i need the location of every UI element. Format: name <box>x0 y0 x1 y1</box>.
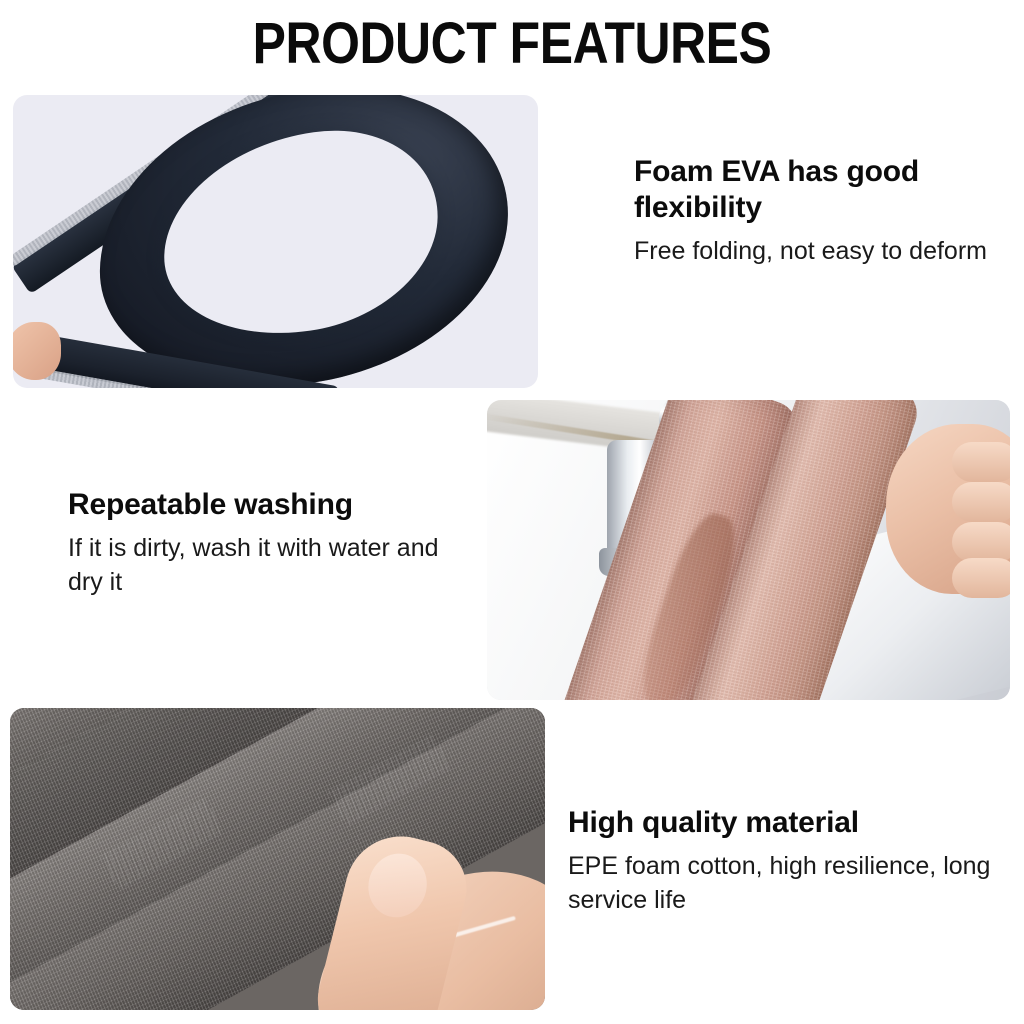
finger-1 <box>952 442 1010 482</box>
feature-body-material: EPE foam cotton, high resilience, long s… <box>568 849 1018 917</box>
feature-text-flexibility: Foam EVA has good flexibility Free foldi… <box>634 154 1014 268</box>
finger-2 <box>952 482 1010 522</box>
feature-image-material <box>10 708 545 1010</box>
feature-heading-washing: Repeatable washing <box>68 487 468 523</box>
page-title: PRODUCT FEATURES <box>72 14 953 74</box>
hand-holding-tube <box>886 424 1010 594</box>
hand-holding-foam <box>13 322 61 380</box>
eva-foam-loop-illustration <box>13 95 538 388</box>
feature-heading-material: High quality material <box>568 805 1018 841</box>
finger-4 <box>952 558 1010 598</box>
feature-body-flexibility: Free folding, not easy to deform <box>634 234 1014 268</box>
feature-body-washing: If it is dirty, wash it with water and d… <box>68 531 468 599</box>
feature-image-flexibility <box>13 95 538 388</box>
feature-heading-flexibility: Foam EVA has good flexibility <box>634 154 1014 226</box>
feature-image-washing <box>487 400 1010 700</box>
feature-text-washing: Repeatable washing If it is dirty, wash … <box>68 487 468 599</box>
finger-3 <box>952 522 1010 562</box>
feature-text-material: High quality material EPE foam cotton, h… <box>568 805 1018 917</box>
thumbnail <box>362 847 434 923</box>
